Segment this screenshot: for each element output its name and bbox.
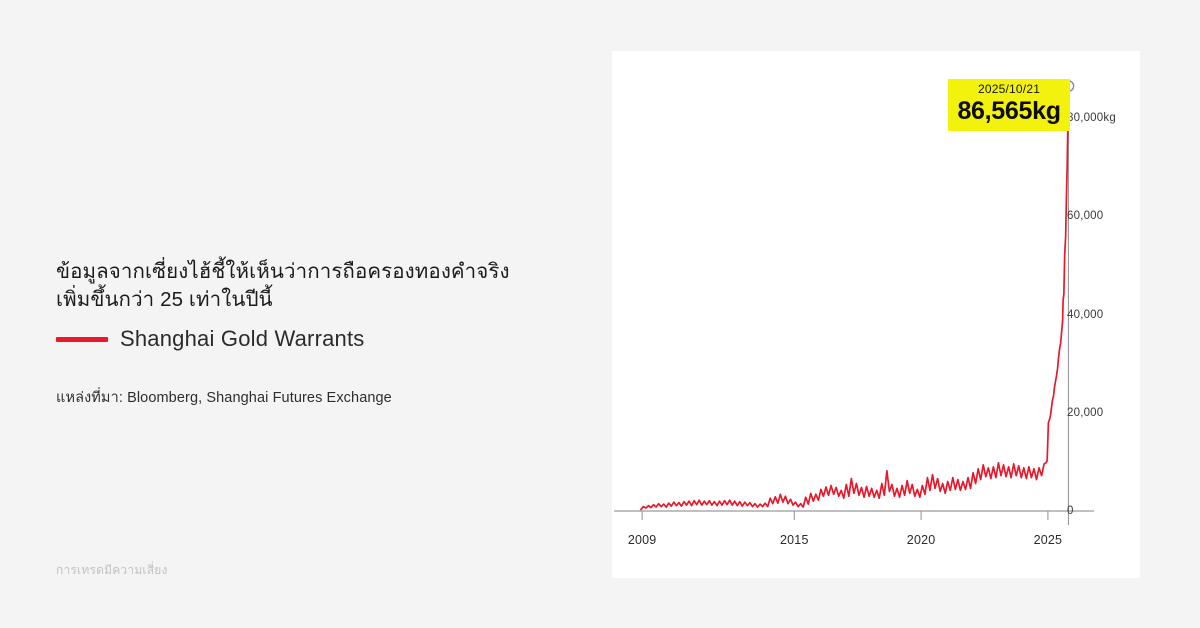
- risk-disclaimer: การเทรดมีความเสี่ยง: [56, 561, 168, 580]
- text-column: ข้อมูลจากเซี่ยงไฮ้ชี้ให้เห็นว่าการถือครอ…: [56, 258, 576, 352]
- x-axis-tickmarks: [642, 511, 1048, 520]
- legend-series-label: Shanghai Gold Warrants: [120, 326, 365, 352]
- callout-value-label: 86,565kg: [957, 99, 1060, 124]
- infographic-page: ข้อมูลจากเซี่ยงไฮ้ชี้ให้เห็นว่าการถือครอ…: [0, 0, 1200, 628]
- y-axis-tick-label: 60,000: [1067, 210, 1103, 222]
- x-axis-tick-label: 2025: [1034, 533, 1063, 547]
- series-line-shanghai-gold-warrants: [641, 86, 1069, 509]
- y-axis-tick-label: 80,000kg: [1067, 112, 1116, 124]
- y-axis-tick-label: 0: [1067, 505, 1074, 517]
- x-axis-tick-label: 2015: [780, 533, 809, 547]
- x-axis-labels: 2009201520202025: [632, 533, 1092, 561]
- headline-text: ข้อมูลจากเซี่ยงไฮ้ชี้ให้เห็นว่าการถือครอ…: [56, 258, 576, 314]
- source-attribution: แหล่งที่มา: Bloomberg, Shanghai Futures …: [56, 386, 392, 409]
- y-axis-tick-label: 20,000: [1067, 407, 1103, 419]
- x-axis-tick-label: 2020: [907, 533, 936, 547]
- y-axis-labels: 020,00040,00060,00080,000kg: [1067, 51, 1142, 531]
- chart-legend: Shanghai Gold Warrants: [56, 326, 576, 352]
- callout-date-label: 2025/10/21: [957, 83, 1060, 95]
- legend-color-swatch: [56, 337, 108, 342]
- x-axis-tick-label: 2009: [628, 533, 657, 547]
- chart-panel: 020,00040,00060,00080,000kg 200920152020…: [612, 51, 1140, 578]
- y-axis-tick-label: 40,000: [1067, 309, 1103, 321]
- peak-value-callout: 2025/10/21 86,565kg: [948, 79, 1069, 131]
